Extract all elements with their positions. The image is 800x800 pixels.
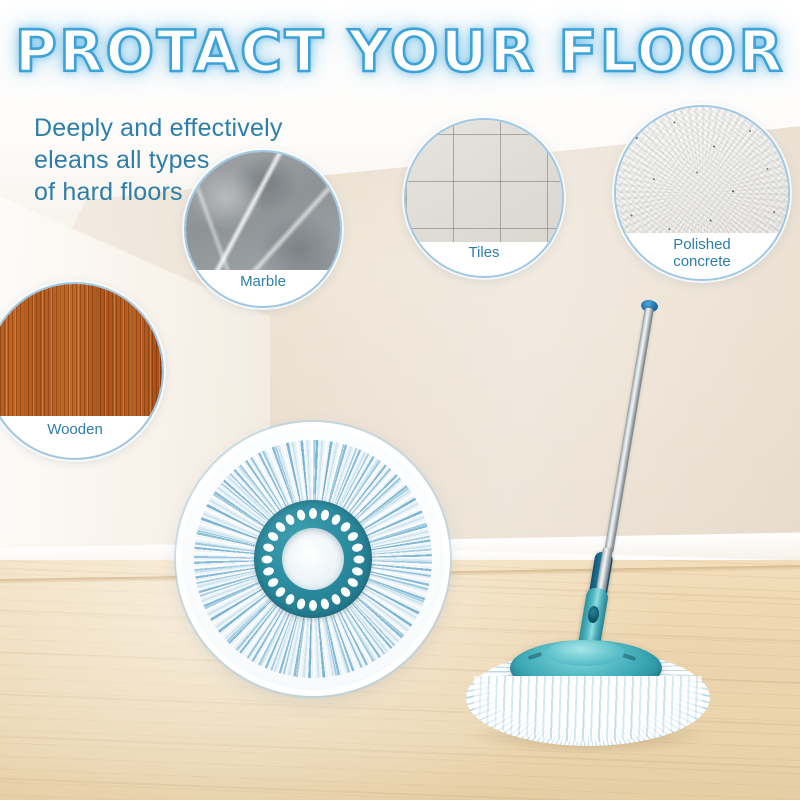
- hub-hole: [330, 592, 342, 606]
- hub-hole: [262, 542, 275, 553]
- hub-hole: [339, 520, 352, 533]
- mop-hub-ring: [254, 500, 372, 618]
- mop-fringe-front: [474, 676, 702, 742]
- spin-mop-product: [0, 0, 800, 800]
- hub-hole: [266, 530, 280, 542]
- hub-hole: [320, 508, 331, 521]
- hub-hole: [274, 585, 287, 598]
- hub-hole: [262, 555, 273, 563]
- hub-hole: [296, 597, 307, 610]
- hub-hole: [274, 520, 287, 533]
- hub-hole: [262, 566, 275, 577]
- hub-hole: [351, 542, 364, 553]
- hub-hole: [284, 512, 296, 526]
- hub-hole: [346, 576, 360, 588]
- hub-hole: [330, 512, 342, 526]
- hub-hole: [339, 585, 352, 598]
- hub-hole: [346, 530, 360, 542]
- hub-hole: [320, 597, 331, 610]
- product-banner: PROTACT YOUR FLOOR Deeply and effectivel…: [0, 0, 800, 800]
- mop-head-closeup-callout: [182, 428, 444, 690]
- hub-hole: [266, 576, 280, 588]
- mop-pole-upper: [604, 307, 654, 553]
- hub-hole: [351, 566, 364, 577]
- disc-slot: [622, 653, 637, 661]
- mop-disc-top-face: [546, 640, 624, 666]
- hub-hole: [354, 555, 365, 563]
- hub-hole: [284, 592, 296, 606]
- hub-hole: [309, 600, 317, 611]
- hub-center-opening: [282, 528, 344, 590]
- hub-hole: [296, 508, 307, 521]
- disc-slot: [528, 652, 543, 660]
- hub-hole: [309, 508, 317, 519]
